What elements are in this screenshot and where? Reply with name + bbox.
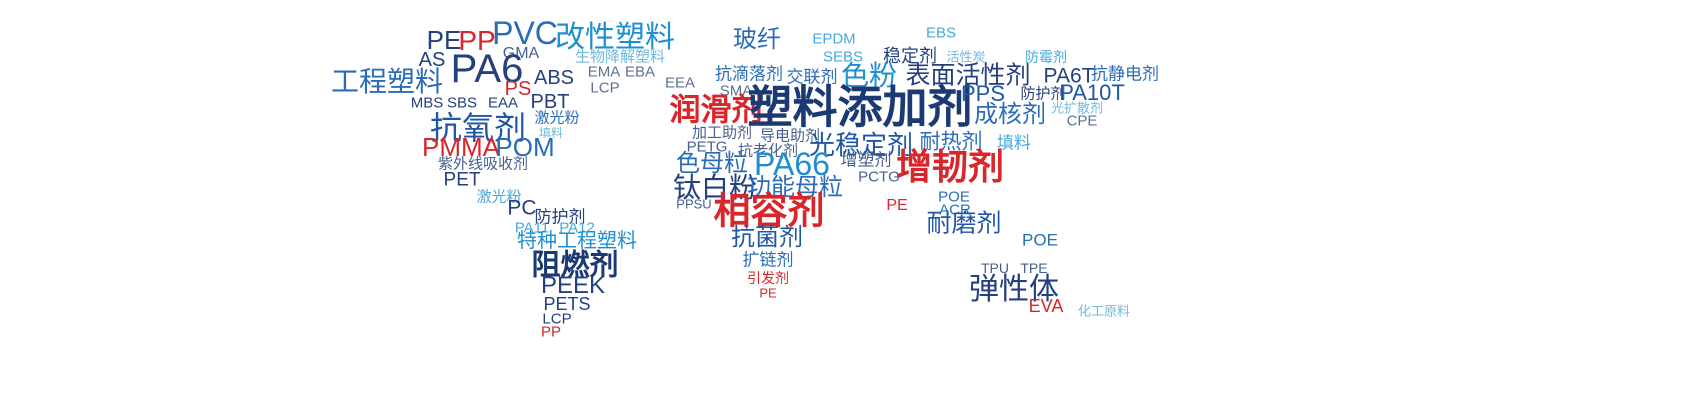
wordcloud-word[interactable]: 耐磨剂 [926, 212, 1001, 237]
wordcloud-word[interactable]: ABS [534, 68, 574, 88]
wordcloud-word[interactable]: 增塑剂 [841, 152, 892, 169]
wordcloud-word[interactable]: 成核剂 [974, 103, 1046, 127]
wordcloud-word[interactable]: 增韧剂 [896, 149, 1004, 185]
wordcloud-word[interactable]: PPSU [676, 198, 711, 211]
wordcloud-word[interactable]: PCTG [858, 170, 900, 185]
wordcloud-word[interactable]: CPE [1067, 114, 1098, 129]
wordcloud-word[interactable]: EPDM [812, 32, 855, 47]
wordcloud-word[interactable]: PC [507, 198, 536, 219]
wordcloud-word[interactable]: PE [759, 287, 776, 300]
wordcloud-word[interactable]: 引发剂 [747, 271, 789, 285]
wordcloud-word[interactable]: 塑料添加剂 [747, 85, 972, 130]
wordcloud-word[interactable]: 玻纤 [733, 28, 781, 52]
wordcloud-word[interactable]: EEA [665, 76, 695, 91]
wordcloud-word[interactable]: 激光粉 [534, 111, 579, 126]
wordcloud-word[interactable]: PE [886, 198, 907, 214]
wordcloud-word[interactable]: PS [505, 79, 532, 99]
wordcloud-word[interactable]: 防霉剂 [1025, 50, 1067, 64]
wordcloud-word[interactable]: POE [1022, 232, 1058, 249]
wordcloud-word[interactable]: MBS [411, 96, 444, 111]
wordcloud-word[interactable]: 生物降解塑料 [575, 50, 665, 65]
wordcloud-word[interactable]: 抗菌剂 [731, 226, 803, 250]
wordcloud-word[interactable]: EMA [588, 65, 621, 80]
wordcloud-word[interactable]: 抗滴落剂 [715, 66, 783, 83]
wordcloud-word[interactable]: LCP [590, 81, 619, 96]
wordcloud-word[interactable]: 特种工程塑料 [517, 231, 637, 251]
wordcloud-word[interactable]: PP [541, 325, 561, 340]
wordcloud-word[interactable]: EBA [625, 65, 655, 80]
wordcloud-word[interactable]: PPS [961, 83, 1005, 105]
wordcloud-word[interactable]: 工程塑料 [331, 68, 443, 96]
wordcloud-word[interactable]: EVA [1029, 297, 1064, 315]
wordcloud-word[interactable]: SBS [447, 96, 477, 111]
wordcloud-canvas: PEPPPVCGMA改性塑料玻纤EPDMEBSASPA6工程塑料ABS生物降解塑… [0, 0, 1707, 400]
wordcloud-word[interactable]: EBS [926, 26, 956, 41]
wordcloud-word[interactable]: 化工原料 [1078, 305, 1130, 318]
wordcloud-word[interactable]: 扩链剂 [743, 252, 794, 269]
wordcloud-word[interactable]: PET [444, 171, 481, 190]
